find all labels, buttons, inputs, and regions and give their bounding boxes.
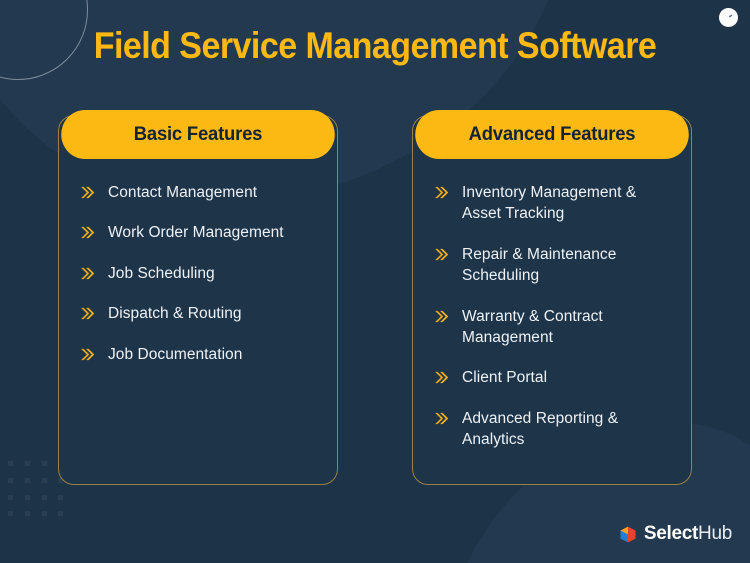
selecthub-cube-icon <box>618 525 638 544</box>
basic-features-list: Contact Management Work Order Management <box>79 182 317 365</box>
double-chevron-right-icon <box>433 184 450 201</box>
share-button[interactable] <box>719 8 738 27</box>
selecthub-logo[interactable]: SelectHub <box>618 523 732 545</box>
list-item: Advanced Reporting & Analytics <box>433 408 671 451</box>
double-chevron-right-icon <box>79 265 96 282</box>
card-advanced-features: Advanced Features Inventory Management &… <box>412 115 692 485</box>
list-item-label: Dispatch & Routing <box>108 303 242 324</box>
list-item-label: Repair & Maintenance Scheduling <box>462 244 671 287</box>
double-chevron-right-icon <box>79 224 96 241</box>
list-item: Job Scheduling <box>79 263 317 284</box>
list-item: Contact Management <box>79 182 317 203</box>
double-chevron-right-icon <box>433 410 450 427</box>
page-title: Field Service Management Software <box>30 26 720 67</box>
list-item: Inventory Management & Asset Tracking <box>433 182 671 225</box>
double-chevron-right-icon <box>79 305 96 322</box>
card-basic-features-header: Basic Features <box>61 110 335 159</box>
feature-columns: Basic Features Contact Management <box>58 115 692 485</box>
selecthub-logo-text: SelectHub <box>644 523 732 545</box>
list-item-label: Warranty & Contract Management <box>462 306 671 349</box>
list-item: Work Order Management <box>79 222 317 243</box>
list-item-label: Inventory Management & Asset Tracking <box>462 182 671 225</box>
list-item-label: Job Documentation <box>108 344 242 365</box>
logo-text-light: Hub <box>698 523 732 544</box>
double-chevron-right-icon <box>79 346 96 363</box>
card-basic-features: Basic Features Contact Management <box>58 115 338 485</box>
share-arrow-icon <box>723 12 734 23</box>
double-chevron-right-icon <box>433 369 450 386</box>
double-chevron-right-icon <box>79 184 96 201</box>
card-advanced-features-header: Advanced Features <box>415 110 689 159</box>
list-item-label: Job Scheduling <box>108 263 215 284</box>
double-chevron-right-icon <box>433 246 450 263</box>
double-chevron-right-icon <box>433 308 450 325</box>
list-item-label: Client Portal <box>462 367 547 388</box>
list-item-label: Contact Management <box>108 182 257 203</box>
list-item: Warranty & Contract Management <box>433 306 671 349</box>
list-item-label: Work Order Management <box>108 222 284 243</box>
advanced-features-list: Inventory Management & Asset Tracking Re… <box>433 182 671 450</box>
list-item: Repair & Maintenance Scheduling <box>433 244 671 287</box>
logo-text-bold: Select <box>644 523 698 544</box>
list-item-label: Advanced Reporting & Analytics <box>462 408 671 451</box>
infographic-slide: Field Service Management Software Basic … <box>0 0 750 563</box>
list-item: Dispatch & Routing <box>79 303 317 324</box>
list-item: Client Portal <box>433 367 671 388</box>
list-item: Job Documentation <box>79 344 317 365</box>
